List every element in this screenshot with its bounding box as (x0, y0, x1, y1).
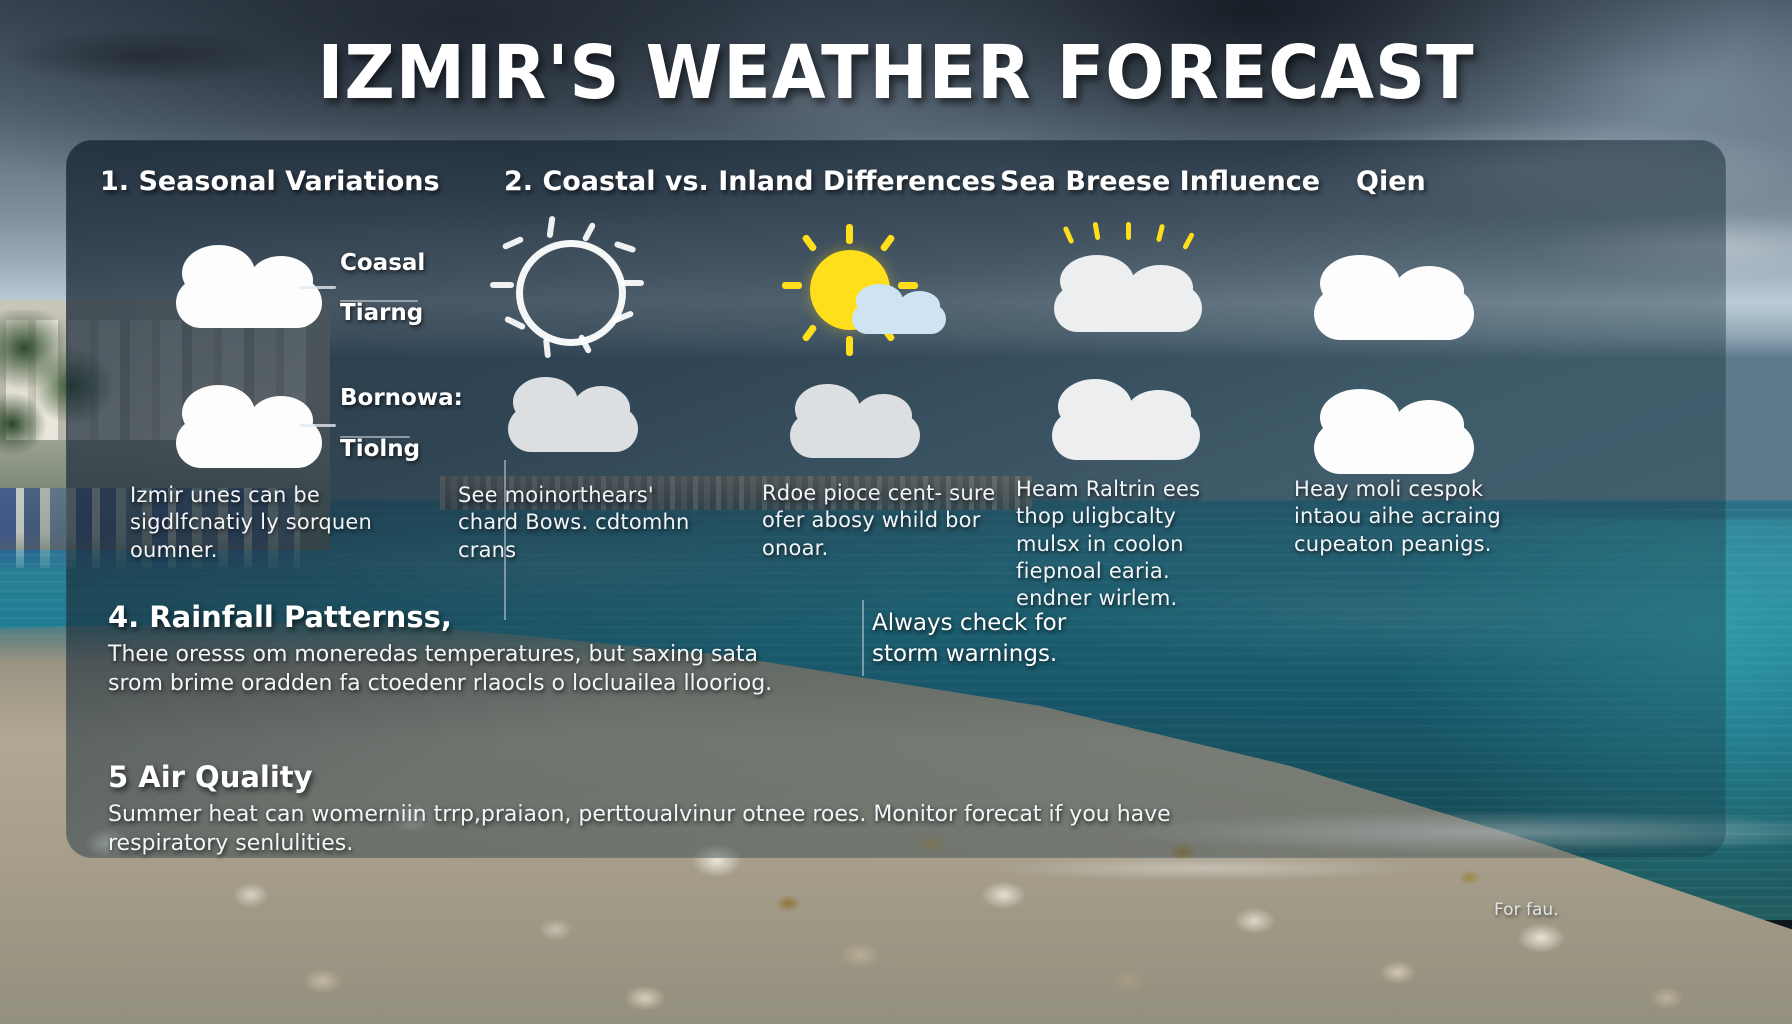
cloud-icon (1314, 382, 1474, 474)
leader-line (300, 286, 336, 289)
cloud-icon (1052, 372, 1200, 460)
label-bornowa: Bornowa: (340, 385, 463, 411)
cloud-icon (1314, 248, 1474, 340)
column-body-seasonal-variations: Izmir unes can be sigdlfcnatiy ly sorque… (130, 482, 430, 564)
sun-with-cloud-icon (776, 222, 946, 352)
cloud-icon (790, 378, 920, 458)
column-heading-sea-breeze: Sea Breese Influence (1000, 167, 1320, 197)
column-heading-qien: Qien (1356, 167, 1426, 197)
section-rainfall-patterns: 4. Rainfall Patternss, Theıe oresss om m… (108, 600, 808, 698)
label-coastal: Coasal (340, 250, 425, 276)
label-tiarng: Tiarng (340, 300, 423, 326)
page-title: IZMIR'S WEATHER FORECAST (54, 30, 1738, 116)
column-body-qien: Heay moli cespok intaou aihe acraing cup… (1294, 476, 1524, 558)
column-body-coastal-vs-inland: See moinorthears' chard Bows. cdtomhn cr… (458, 482, 716, 564)
infographic-canvas: IZMIR'S WEATHER FORECAST 1. Seasonal Var… (0, 0, 1792, 1024)
section-body-air-quality: Summer heat can womerniin trrp,praiaon, … (108, 800, 1288, 858)
column-body-four: Heam Raltrin ees thop uligbcalty mulsx i… (1016, 476, 1246, 612)
cloud-icon (176, 238, 322, 328)
footer-note: For fau. (1494, 900, 1559, 920)
column-heading-seasonal-variations: 1. Seasonal Variations (100, 167, 440, 197)
leader-line (300, 424, 336, 427)
doodle-sun-icon (490, 210, 650, 350)
section-heading-air-quality: 5 Air Quality (108, 760, 1288, 794)
cloud-with-rays-icon (1046, 222, 1212, 342)
cloud-icon (508, 370, 638, 452)
label-tiolng: Tiolng (340, 436, 420, 462)
storm-warning-note: Always check for storm warnings. (872, 608, 1092, 670)
cloud-icon (176, 378, 322, 468)
section-heading-rainfall: 4. Rainfall Patternss, (108, 600, 808, 634)
column-heading-coastal-vs-inland: 2. Coastal vs. Inland Differences (504, 167, 996, 197)
column-divider (504, 460, 506, 620)
section-body-rainfall: Theıe oresss om moneredas temperatures, … (108, 640, 808, 698)
column-body-sea-breeze: Rdoe pioce cent- sure ofer abosy whild b… (762, 480, 1002, 562)
column-divider (862, 600, 864, 676)
section-air-quality: 5 Air Quality Summer heat can womerniin … (108, 760, 1288, 858)
